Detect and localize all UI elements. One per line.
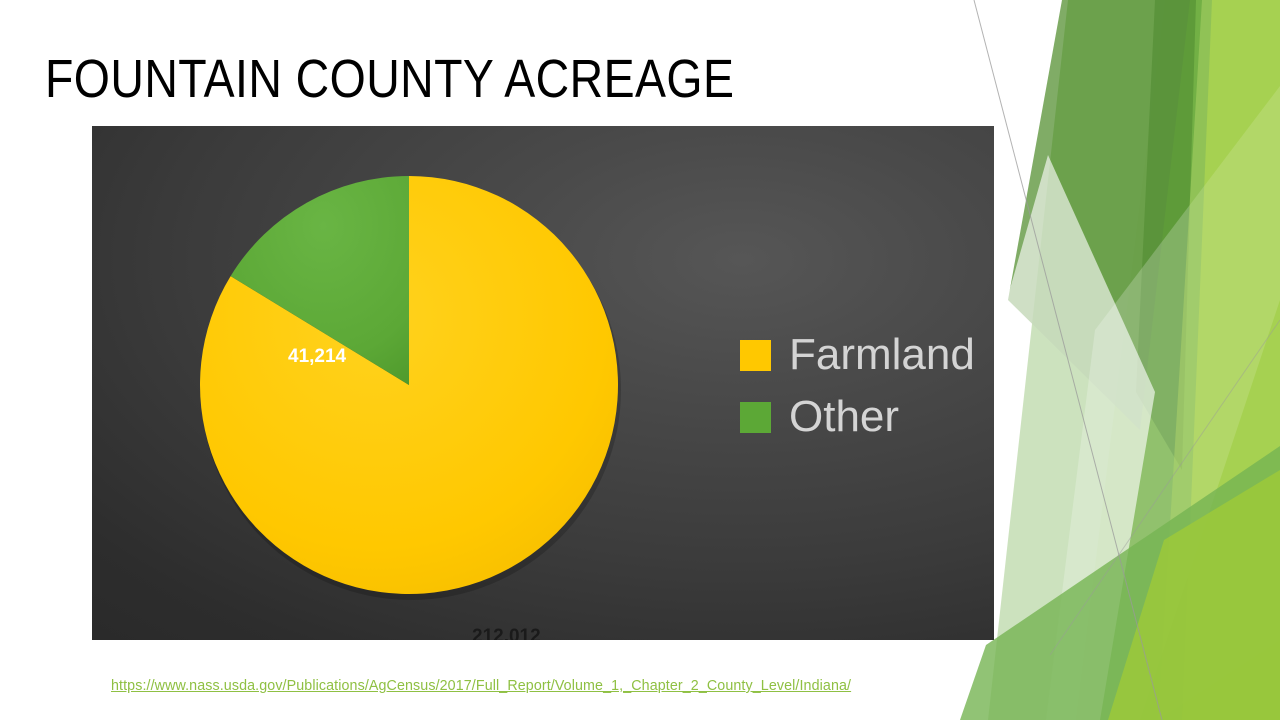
legend-item-other[interactable]: Other: [740, 386, 975, 448]
facet-decoration: [950, 0, 1280, 720]
pie-chart-container[interactable]: 41,214 212,012 Farmland Other: [92, 126, 994, 640]
legend-label-farmland: Farmland: [789, 332, 975, 378]
decor-polygons: [950, 0, 1280, 720]
legend-swatch-other: [740, 402, 771, 433]
presentation-slide: FOUNTAIN COUNTY ACREAGE: [0, 0, 1280, 720]
legend-swatch-farmland: [740, 340, 771, 371]
pie-label-other: 41,214: [288, 346, 346, 368]
legend-label-other: Other: [789, 394, 899, 440]
pie-label-farmland: 212,012: [472, 626, 541, 640]
chart-legend: Farmland Other: [740, 324, 975, 448]
source-link[interactable]: https://www.nass.usda.gov/Publications/A…: [111, 678, 851, 694]
page-title: FOUNTAIN COUNTY ACREAGE: [45, 48, 819, 110]
legend-item-farmland[interactable]: Farmland: [740, 324, 975, 386]
